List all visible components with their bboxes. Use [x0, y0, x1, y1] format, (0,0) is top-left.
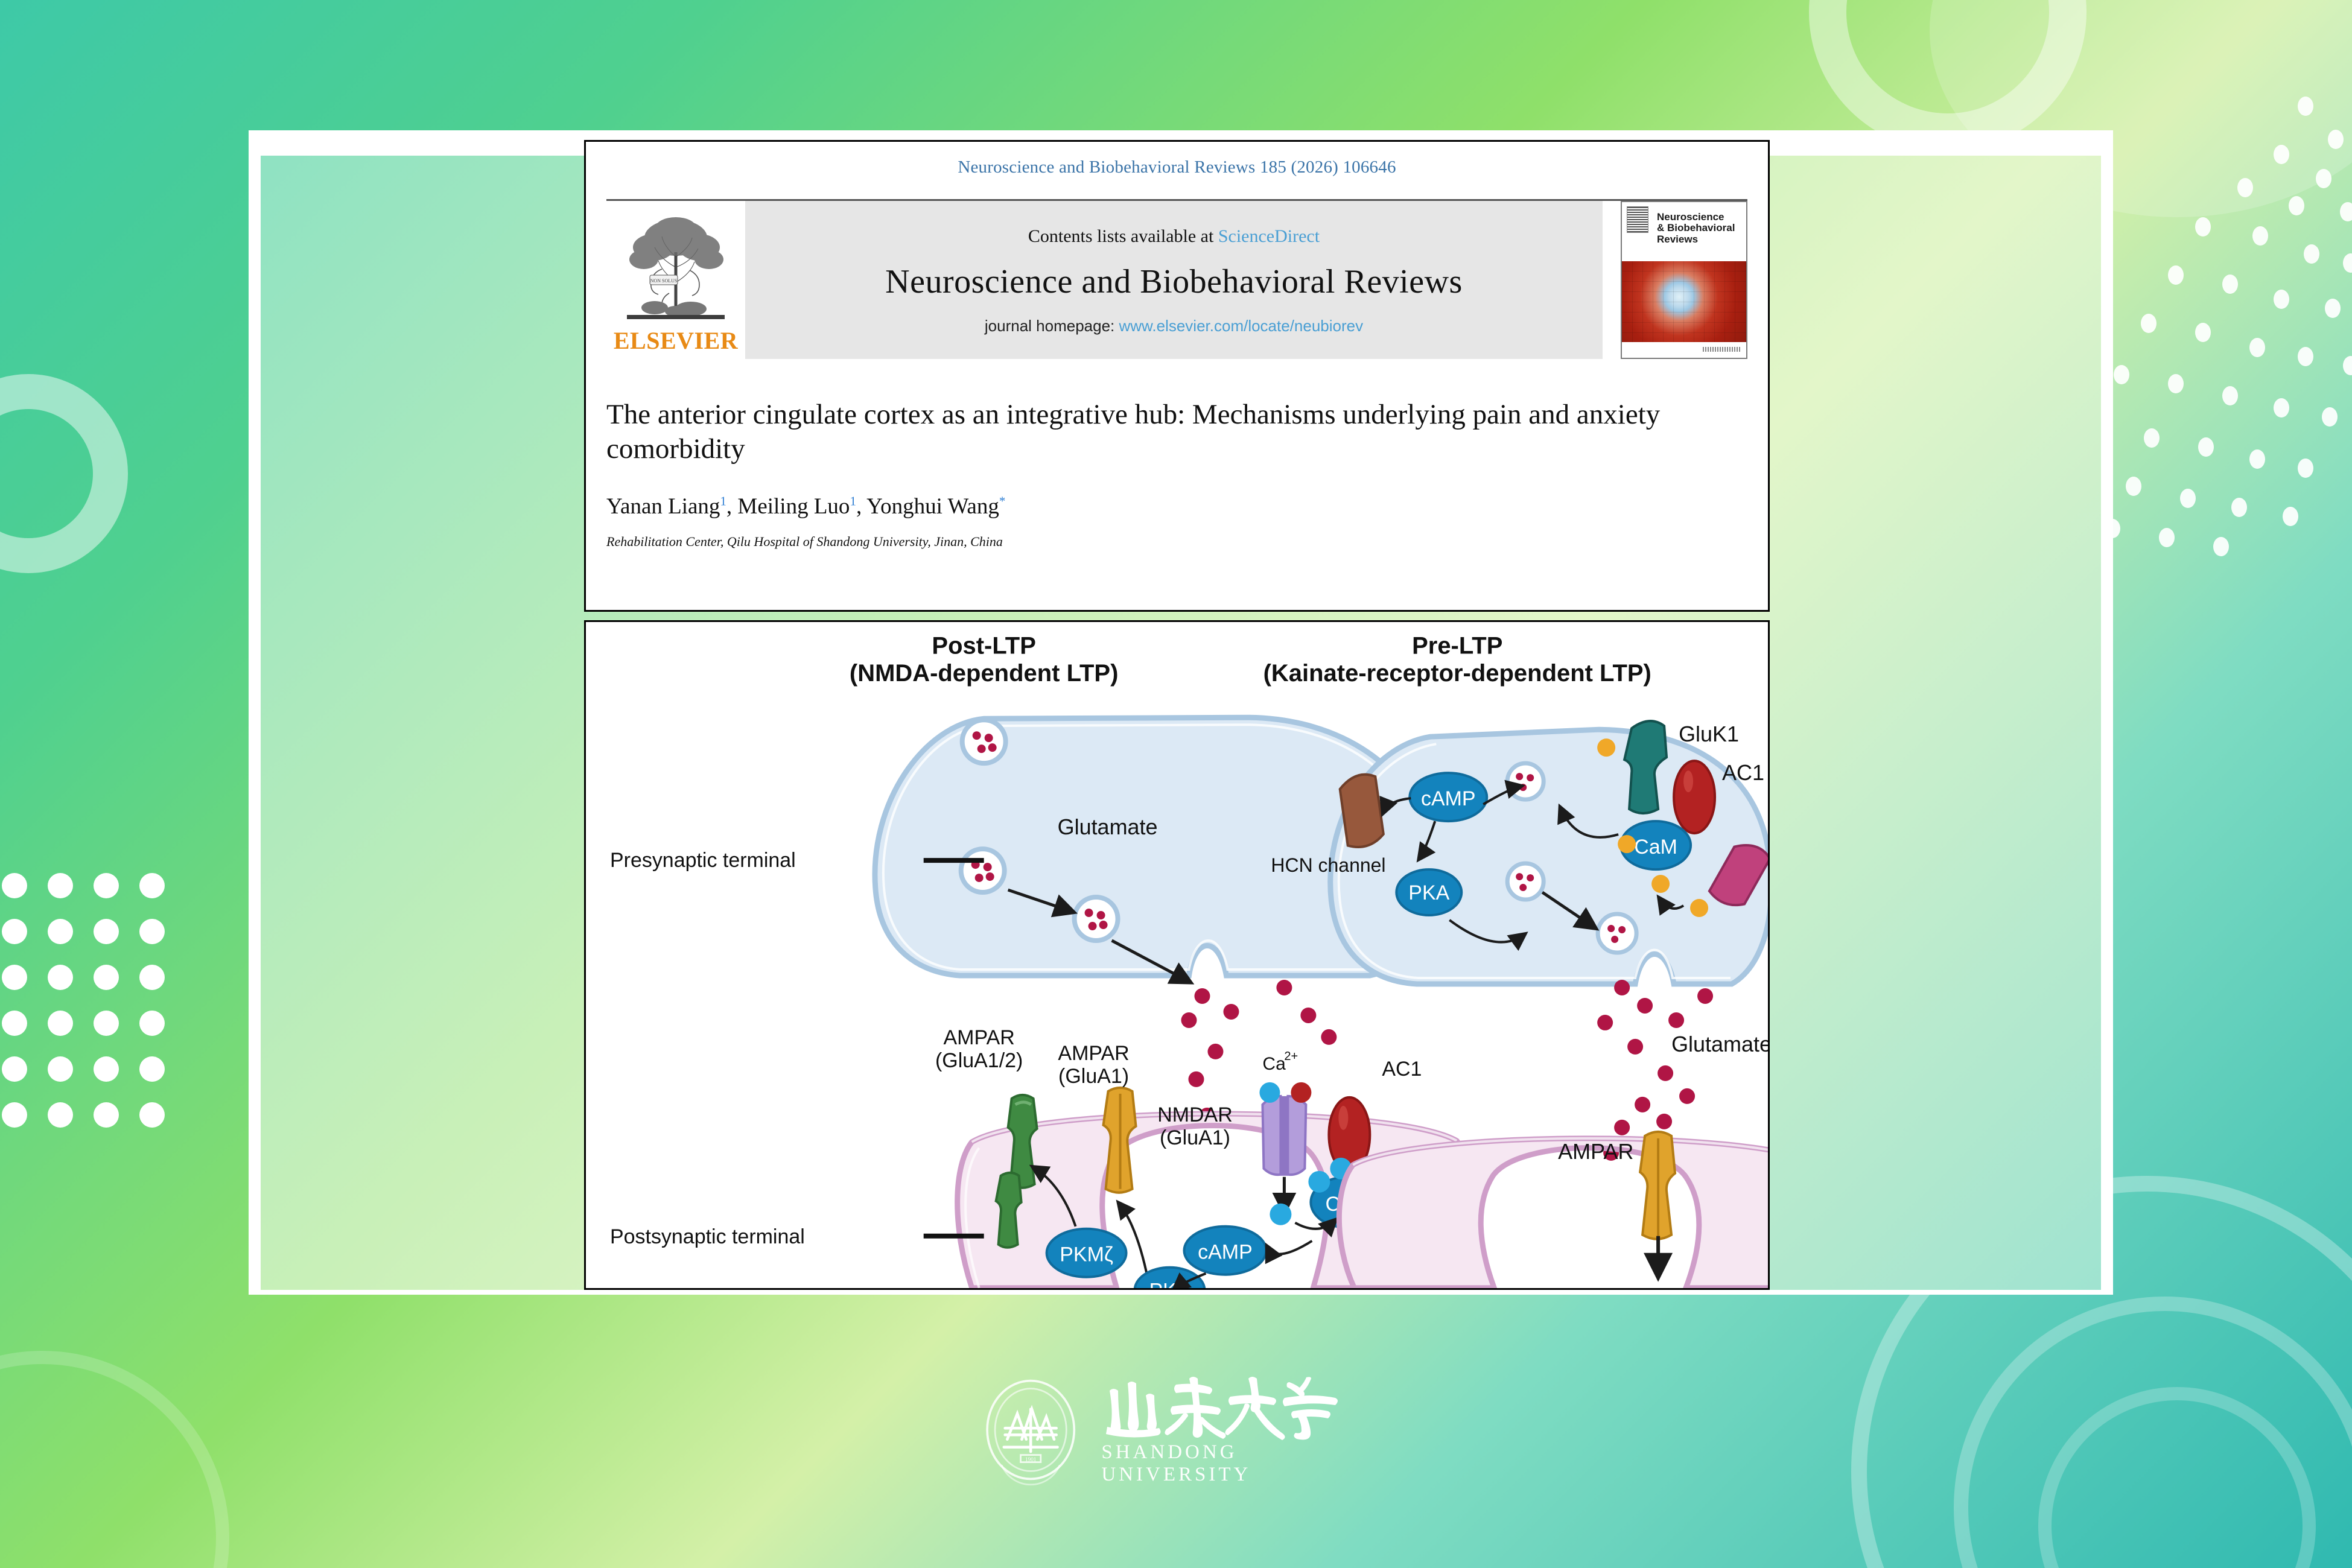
svg-text:Ca: Ca — [1262, 1054, 1286, 1074]
glutamate-label-left: Glutamate — [1058, 814, 1158, 839]
sdu-chinese-calligraphy — [1101, 1374, 1343, 1440]
paper-header-card: Neuroscience and Biobehavioral Reviews 1… — [584, 140, 1770, 612]
svg-text:Presynaptic terminal: Presynaptic terminal — [610, 849, 796, 872]
svg-text:cAMP: cAMP — [1421, 787, 1476, 810]
left-ring — [0, 374, 128, 573]
masthead: NON SOLUS ELSEVIER Contents lists availa… — [606, 201, 1747, 359]
journal-homepage-line: journal homepage: www.elsevier.com/locat… — [985, 317, 1363, 335]
journal-cover-thumbnail: Neuroscience & Biobehavioral Reviews — [1621, 201, 1747, 359]
running-head: Neuroscience and Biobehavioral Reviews 1… — [586, 142, 1768, 177]
ac1-enzyme-right — [1674, 761, 1715, 833]
paper-title: The anterior cingulate cortex as an inte… — [606, 398, 1747, 467]
top-right-ring — [1809, 0, 2087, 151]
elsevier-tree-icon: NON SOLUS — [618, 210, 733, 328]
glutamate-label-right: Glutamate — [1671, 1032, 1768, 1056]
pkmzeta-kinase: PKMζ — [1047, 1229, 1127, 1277]
ampar-glua12-label-line1: AMPAR — [944, 1026, 1015, 1049]
author-3-sup[interactable]: * — [999, 494, 1006, 508]
cover-artwork-heatmap — [1622, 261, 1746, 342]
cover-elsevier-mini-icon — [1627, 206, 1648, 233]
bottom-right-ring-middle — [1954, 1297, 2352, 1568]
author-1-sup[interactable]: 1 — [720, 494, 726, 508]
cover-title-line3: Reviews — [1657, 234, 1741, 245]
journal-name: Neuroscience and Biobehavioral Reviews — [885, 262, 1463, 301]
svg-text:PKA: PKA — [1408, 881, 1449, 904]
author-sep-1: , — [726, 494, 738, 519]
ampar-glua12-label-line2: (GluA1/2) — [935, 1049, 1023, 1072]
ampar-glua1-label-line1: AMPAR — [1058, 1042, 1129, 1065]
masthead-box: Contents lists available at ScienceDirec… — [745, 201, 1603, 359]
svg-text:Postsynaptic terminal: Postsynaptic terminal — [610, 1225, 805, 1248]
ampar-glua1-label-line2: (GluA1) — [1058, 1065, 1129, 1088]
author-2: Meiling Luo — [737, 494, 850, 519]
ac1-label-left: AC1 — [1382, 1058, 1422, 1081]
svg-text:PKMζ: PKMζ — [1060, 1243, 1113, 1266]
author-list: Yanan Liang1, Meiling Luo1, Yonghui Wang… — [606, 494, 1747, 519]
pre-ltp-title-line2: (Kainate-receptor-dependent LTP) — [1263, 660, 1651, 687]
sdu-crest-icon: 1901 — [981, 1373, 1081, 1487]
cover-title: Neuroscience & Biobehavioral Reviews — [1657, 212, 1741, 245]
ampar-label-right: AMPAR — [1558, 1139, 1633, 1164]
elsevier-logo: NON SOLUS ELSEVIER — [606, 201, 745, 359]
bottom-right-ring-inner — [2038, 1387, 2316, 1568]
shandong-university-logo: 1901 — [981, 1370, 1373, 1490]
svg-text:1901: 1901 — [1025, 1456, 1037, 1462]
author-1: Yanan Liang — [606, 494, 720, 519]
sdu-wordmark: SHANDONG UNIVERSITY — [1101, 1374, 1373, 1486]
gluk1-label: GluK1 — [1679, 722, 1739, 746]
author-2-sup[interactable]: 1 — [850, 494, 856, 508]
pka-kinase-right: PKA — [1396, 869, 1461, 915]
author-sep-2: , — [856, 494, 866, 519]
elsevier-wordmark: ELSEVIER — [614, 329, 738, 353]
sdu-english-name: SHANDONG UNIVERSITY — [1101, 1441, 1373, 1486]
synapse-figure-card: Post-LTP (NMDA-dependent LTP) Pre-LTP (K… — [584, 620, 1770, 1290]
svg-text:cAMP: cAMP — [1198, 1241, 1253, 1264]
nmdar-label-line1: NMDAR — [1157, 1103, 1233, 1126]
journal-homepage-link[interactable]: www.elsevier.com/locate/neubiorev — [1119, 317, 1363, 335]
cover-title-line1: Neuroscience — [1657, 212, 1741, 223]
contents-available-line: Contents lists available at ScienceDirec… — [1028, 226, 1320, 247]
homepage-prefix: journal homepage: — [985, 317, 1119, 335]
calcium-ion-free-left — [1270, 1204, 1291, 1225]
ac1-label-right: AC1 — [1722, 760, 1764, 785]
cover-top: Neuroscience & Biobehavioral Reviews — [1622, 202, 1746, 261]
title-block: The anterior cingulate cortex as an inte… — [586, 359, 1768, 550]
camp-molecule-right: cAMP — [1410, 773, 1487, 821]
nmdar-label-line2: (GluA1) — [1160, 1126, 1230, 1149]
author-3: Yonghui Wang — [866, 494, 999, 519]
cover-title-line2: & Biobehavioral — [1657, 223, 1741, 233]
post-ltp-title-line2: (NMDA-dependent LTP) — [850, 660, 1119, 687]
pre-ltp-title-line1: Pre-LTP — [1412, 632, 1502, 659]
affiliation: Rehabilitation Center, Qilu Hospital of … — [606, 534, 1747, 550]
contents-prefix: Contents lists available at — [1028, 226, 1218, 246]
sdu-chinese-name — [1101, 1374, 1343, 1440]
sciencedirect-link[interactable]: ScienceDirect — [1218, 226, 1320, 246]
post-ltp-title-line1: Post-LTP — [932, 632, 1035, 659]
cover-footer — [1622, 342, 1746, 358]
left-dot-grid — [0, 863, 175, 1138]
svg-text:CaM: CaM — [1634, 836, 1677, 859]
svg-text:NON SOLUS: NON SOLUS — [650, 278, 678, 284]
bottom-left-ring — [0, 1351, 229, 1568]
svg-text:2+: 2+ — [1284, 1050, 1298, 1063]
camp-molecule-left: cAMP — [1184, 1227, 1266, 1275]
synapse-diagram: Post-LTP (NMDA-dependent LTP) Pre-LTP (K… — [586, 622, 1768, 1288]
hcn-channel-label: HCN channel — [1271, 854, 1385, 876]
